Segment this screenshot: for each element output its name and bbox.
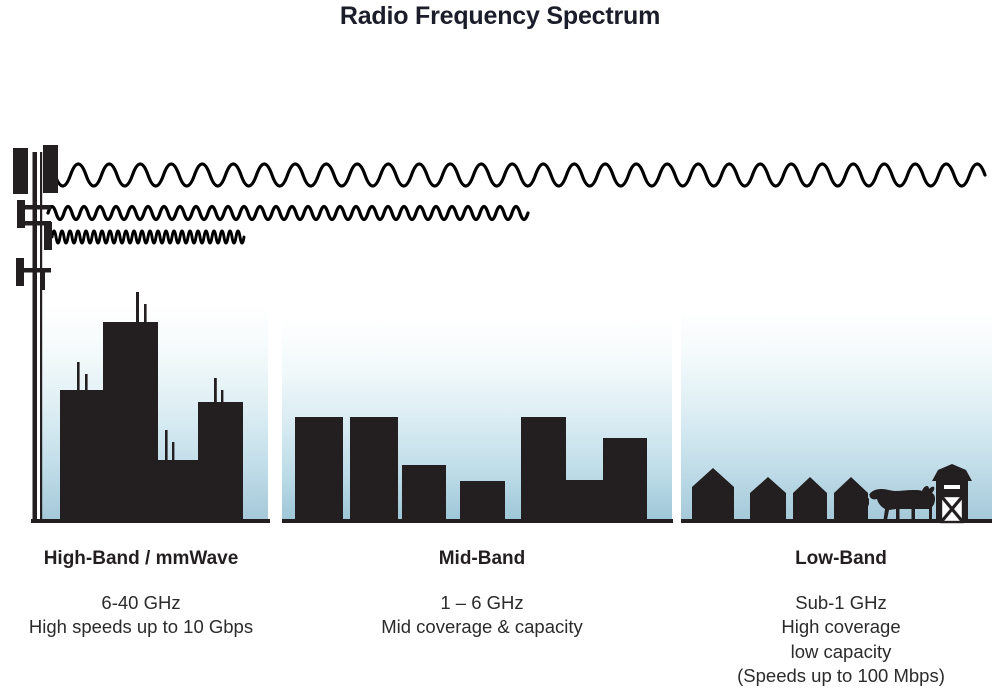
band-caption-high: High-Band / mmWave 6-40 GHz High speeds … (0, 546, 282, 640)
band-detail-high-1: High speeds up to 10 Gbps (0, 615, 282, 639)
tower-antenna-panel-left-top (13, 148, 28, 194)
band-frequency-low: Sub-1 GHz (682, 591, 1000, 615)
building-mid-6 (566, 480, 603, 522)
building-mid-7 (603, 438, 647, 522)
building-high-4 (198, 402, 243, 522)
band-detail-low-2: low capacity (682, 640, 1000, 664)
band-detail-low-3: (Speeds up to 100 Mbps) (682, 664, 1000, 688)
band-detail-mid-1: Mid coverage & capacity (282, 615, 682, 639)
band-title-low: Low-Band (682, 546, 1000, 571)
skyline-spire (165, 430, 168, 462)
skyline-spire (172, 442, 174, 462)
barn-icon (932, 464, 972, 522)
skyline-spire (144, 304, 147, 324)
building-mid-4 (460, 481, 505, 522)
building-mid-5 (521, 417, 566, 522)
building-mid-3 (402, 465, 446, 522)
long-wavelength-wave (55, 164, 985, 186)
short-wavelength-wave (52, 231, 244, 243)
infographic-canvas: Radio Frequency Spectrum (0, 0, 1000, 700)
band-detail-low-1: High coverage (682, 615, 1000, 639)
band-title-high: High-Band / mmWave (0, 546, 282, 571)
building-high-1 (60, 390, 103, 522)
band-caption-low: Low-Band Sub-1 GHz High coverage low cap… (682, 546, 1000, 689)
medium-wavelength-wave (48, 207, 528, 220)
band-title-mid: Mid-Band (282, 546, 682, 571)
band-frequency-mid: 1 – 6 GHz (282, 591, 682, 615)
tower-antenna-panel-left-low (16, 258, 24, 286)
building-high-3 (158, 460, 198, 522)
tower-antenna-panel-left-mid (17, 200, 25, 228)
band-caption-mid: Mid-Band 1 – 6 GHz Mid coverage & capaci… (282, 546, 682, 640)
tower-stub (42, 272, 45, 290)
building-high-2 (103, 322, 158, 522)
skyline-spire (136, 292, 139, 324)
radio-waves (48, 164, 985, 243)
tower-antenna-panel-right-top (43, 145, 58, 193)
band-frequency-high: 6-40 GHz (0, 591, 282, 615)
tower-antenna-panel-right-mid (44, 222, 52, 250)
building-mid-2 (350, 417, 398, 522)
barn-vent-window (944, 485, 960, 489)
building-mid-1 (295, 417, 343, 522)
